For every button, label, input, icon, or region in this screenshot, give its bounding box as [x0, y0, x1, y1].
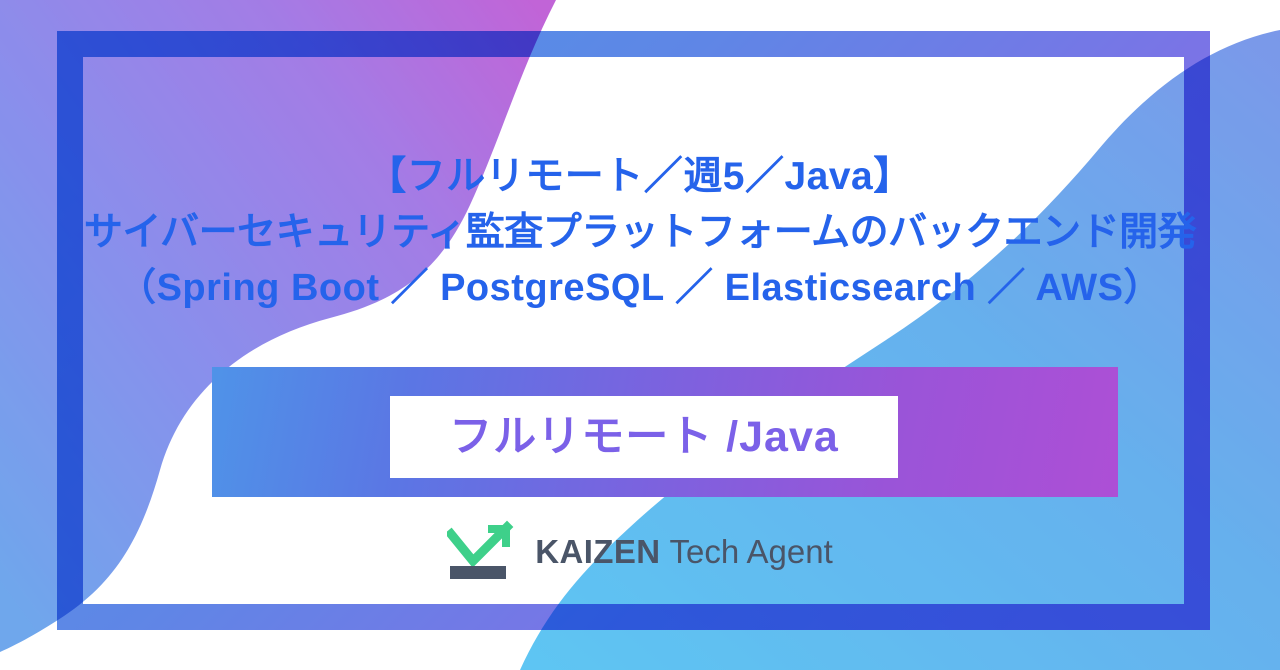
- headline-line-1: 【フルリモート／週5／Java】: [0, 157, 1280, 196]
- growth-arrow-icon: [447, 520, 519, 582]
- badge-white-box: フルリモート /Java: [390, 396, 898, 478]
- poster-canvas: 【フルリモート／週5／Java】 サイバーセキュリティ監査プラットフォームのバッ…: [0, 0, 1280, 670]
- brand-name: KAIZEN: [535, 535, 660, 568]
- brand-logo: KAIZEN Tech Agent: [0, 520, 1280, 582]
- badge-label: フルリモート /Java: [449, 416, 839, 459]
- headline-block: 【フルリモート／週5／Java】 サイバーセキュリティ監査プラットフォームのバッ…: [0, 157, 1280, 307]
- brand-suffix: Tech Agent: [669, 535, 832, 568]
- brand-logo-text: KAIZEN Tech Agent: [535, 535, 833, 568]
- headline-line-2: サイバーセキュリティ監査プラットフォームのバックエンド開発: [0, 213, 1280, 252]
- headline-line-3: （Spring Boot ／ PostgreSQL ／ Elasticsearc…: [0, 269, 1280, 307]
